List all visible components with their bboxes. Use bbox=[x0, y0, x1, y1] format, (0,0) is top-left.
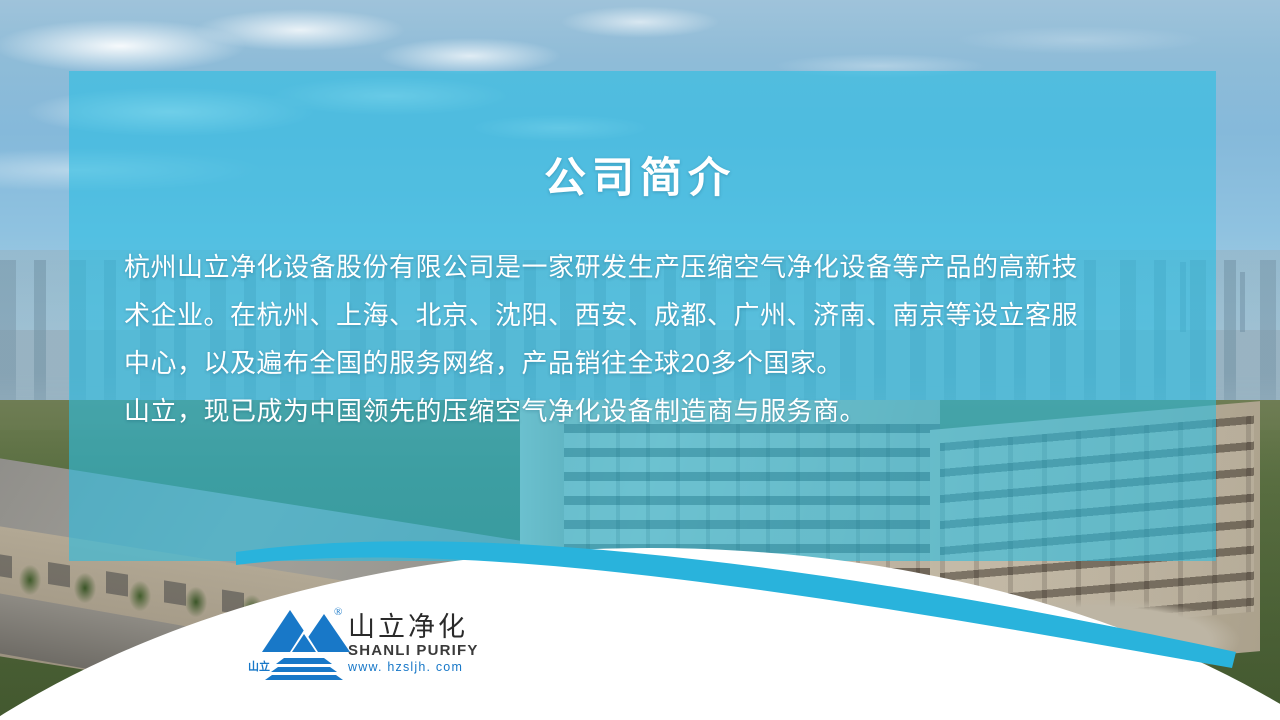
description-line-2: 术企业。在杭州、上海、北京、沈阳、西安、成都、广州、济南、南京等设立客服 bbox=[124, 291, 1114, 339]
logo-company-name-cn: 山立净化 bbox=[348, 612, 488, 642]
logo-company-name-en: SHANLI PURIFY bbox=[348, 642, 488, 659]
company-logo: ® 山立 山立净化 SHANLI PURIFY www. hzsljh. com bbox=[252, 604, 482, 690]
slide-canvas: 公司简介 杭州山立净化设备股份有限公司是一家研发生产压缩空气净化设备等产品的高新… bbox=[0, 0, 1280, 720]
logo-website-url: www. hzsljh. com bbox=[348, 659, 488, 675]
description-line-1: 杭州山立净化设备股份有限公司是一家研发生产压缩空气净化设备等产品的高新技 bbox=[124, 243, 1114, 291]
company-description: 杭州山立净化设备股份有限公司是一家研发生产压缩空气净化设备等产品的高新技 术企业… bbox=[124, 243, 1114, 435]
crane-tower-2 bbox=[1240, 272, 1245, 332]
description-line-3: 中心，以及遍布全国的服务网络，产品销往全球20多个国家。 bbox=[124, 339, 1114, 387]
registered-trademark-icon: ® bbox=[334, 606, 342, 618]
logo-text-block: 山立净化 SHANLI PURIFY www. hzsljh. com bbox=[348, 612, 488, 675]
decorative-swoosh bbox=[0, 480, 1280, 720]
page-title: 公司简介 bbox=[0, 150, 1280, 206]
description-line-4: 山立，现已成为中国领先的压缩空气净化设备制造商与服务商。 bbox=[124, 387, 1114, 435]
logo-mark-label: 山立 bbox=[248, 658, 270, 674]
